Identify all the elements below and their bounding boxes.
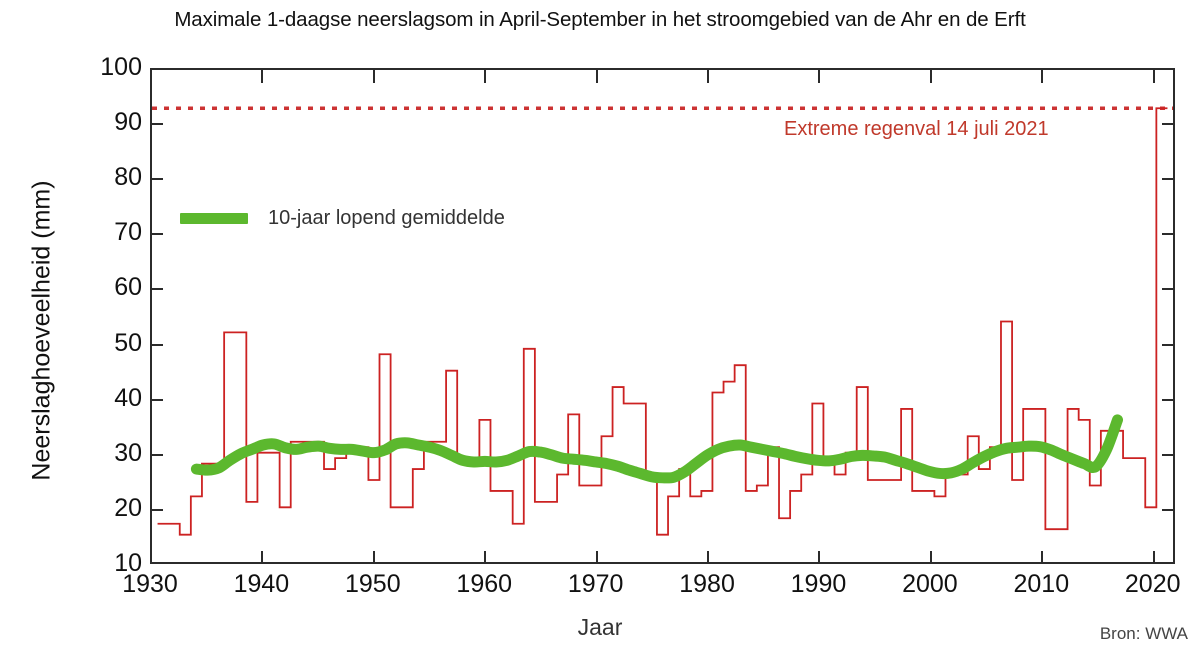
chart-page: Maximale 1-daagse neerslagsom in April-S… <box>0 0 1200 671</box>
x-tick-mark <box>596 551 598 564</box>
y-tick-label: 90 <box>52 110 142 135</box>
observed-series-line <box>158 108 1168 534</box>
legend-label-running-mean: 10-jaar lopend gemiddelde <box>268 207 505 230</box>
chart-legend: 10-jaar lopend gemiddelde <box>180 207 505 230</box>
chart-title: Maximale 1-daagse neerslagsom in April-S… <box>0 8 1200 32</box>
y-tick-mark <box>1162 288 1175 290</box>
y-tick-label: 60 <box>52 275 142 300</box>
x-tick-label: 1960 <box>424 572 544 597</box>
x-tick-label: 1980 <box>647 572 767 597</box>
y-tick-label: 50 <box>52 331 142 356</box>
x-tick-mark <box>707 551 709 564</box>
x-tick-label: 1970 <box>536 572 656 597</box>
y-tick-label: 100 <box>52 55 142 80</box>
y-tick-mark <box>150 454 163 456</box>
x-tick-mark <box>1041 551 1043 564</box>
x-tick-label: 2020 <box>1093 572 1200 597</box>
x-axis-label: Jaar <box>0 614 1200 641</box>
x-tick-label: 2000 <box>870 572 990 597</box>
chart-canvas <box>152 70 1173 562</box>
x-tick-mark <box>373 70 375 83</box>
y-tick-mark <box>1162 344 1175 346</box>
y-tick-mark <box>150 123 163 125</box>
y-tick-mark <box>1162 454 1175 456</box>
x-tick-mark <box>818 70 820 83</box>
x-tick-label: 1950 <box>313 572 433 597</box>
y-tick-mark <box>1162 178 1175 180</box>
x-tick-label: 1930 <box>90 572 210 597</box>
x-tick-mark <box>818 551 820 564</box>
y-axis-label: Neerslaghoeveelheid (mm) <box>28 101 57 561</box>
threshold-annotation-label: Extreme regenval 14 juli 2021 <box>784 118 1049 141</box>
y-tick-mark <box>150 399 163 401</box>
x-tick-mark <box>484 70 486 83</box>
y-tick-mark <box>150 178 163 180</box>
x-tick-mark <box>261 70 263 83</box>
x-tick-mark <box>930 551 932 564</box>
y-tick-label: 70 <box>52 220 142 245</box>
x-tick-mark <box>1153 551 1155 564</box>
y-tick-mark <box>1162 123 1175 125</box>
y-tick-mark <box>150 344 163 346</box>
x-tick-mark <box>261 551 263 564</box>
x-tick-label: 2010 <box>981 572 1101 597</box>
x-tick-mark <box>484 551 486 564</box>
y-tick-label: 80 <box>52 165 142 190</box>
legend-swatch-running-mean <box>180 213 248 224</box>
x-tick-mark <box>1041 70 1043 83</box>
source-label: Bron: WWA <box>1100 624 1188 644</box>
y-tick-label: 20 <box>52 496 142 521</box>
plot-area: 10-jaar lopend gemiddelde Extreme regenv… <box>150 68 1175 564</box>
y-tick-label: 30 <box>52 441 142 466</box>
x-tick-mark <box>150 551 152 564</box>
x-tick-mark <box>707 70 709 83</box>
x-tick-mark <box>596 70 598 83</box>
x-tick-mark <box>930 70 932 83</box>
y-tick-mark <box>150 288 163 290</box>
y-tick-mark <box>150 233 163 235</box>
x-tick-mark <box>373 551 375 564</box>
y-tick-mark <box>1162 399 1175 401</box>
x-tick-mark <box>1153 70 1155 83</box>
y-tick-mark <box>1162 509 1175 511</box>
y-tick-mark <box>1162 233 1175 235</box>
y-tick-label: 40 <box>52 386 142 411</box>
x-tick-label: 1990 <box>758 572 878 597</box>
x-tick-mark <box>150 70 152 83</box>
y-tick-mark <box>150 509 163 511</box>
x-tick-label: 1940 <box>201 572 321 597</box>
